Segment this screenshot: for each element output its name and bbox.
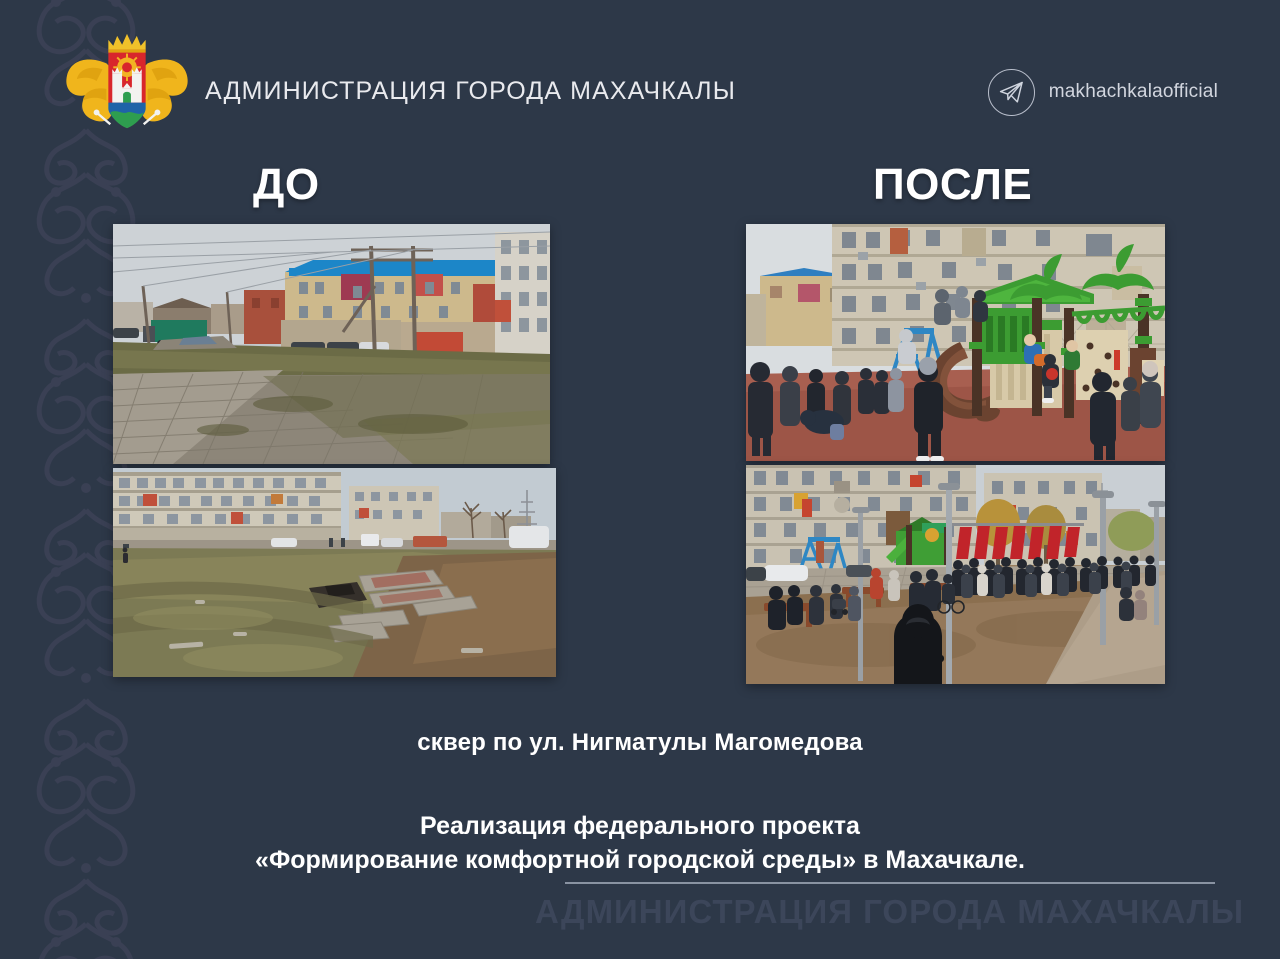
caption-place: сквер по ул. Нигматулы Магомедова bbox=[0, 729, 1280, 757]
photo-before-top[interactable] bbox=[113, 224, 550, 464]
photo-after-top[interactable] bbox=[746, 224, 1165, 461]
photo-after-bottom[interactable] bbox=[746, 465, 1165, 684]
telegram-paper-plane-icon bbox=[988, 69, 1035, 116]
caption-project-line2: «Формирование комфортной городской среды… bbox=[0, 844, 1280, 878]
label-before: ДО bbox=[253, 160, 320, 210]
photo-before-bottom[interactable] bbox=[113, 468, 556, 677]
label-after: ПОСЛЕ bbox=[873, 160, 1032, 210]
caption-project: Реализация федерального проекта «Формиро… bbox=[0, 810, 1280, 878]
telegram-badge[interactable]: makhachkalaofficial bbox=[988, 68, 1218, 116]
page-title: АДМИНИСТРАЦИЯ ГОРОДА МАХАЧКАЛЫ bbox=[205, 77, 736, 106]
coat-of-arms-icon bbox=[62, 30, 192, 138]
telegram-handle: makhachkalaofficial bbox=[1049, 81, 1218, 103]
page-header: АДМИНИСТРАЦИЯ ГОРОДА МАХАЧКАЛЫ makhachka… bbox=[0, 0, 1280, 148]
footer-divider bbox=[565, 882, 1215, 884]
caption-project-line1: Реализация федерального проекта bbox=[0, 810, 1280, 844]
footer-watermark: АДМИНИСТРАЦИЯ ГОРОДА МАХАЧКАЛЫ bbox=[535, 893, 1235, 931]
